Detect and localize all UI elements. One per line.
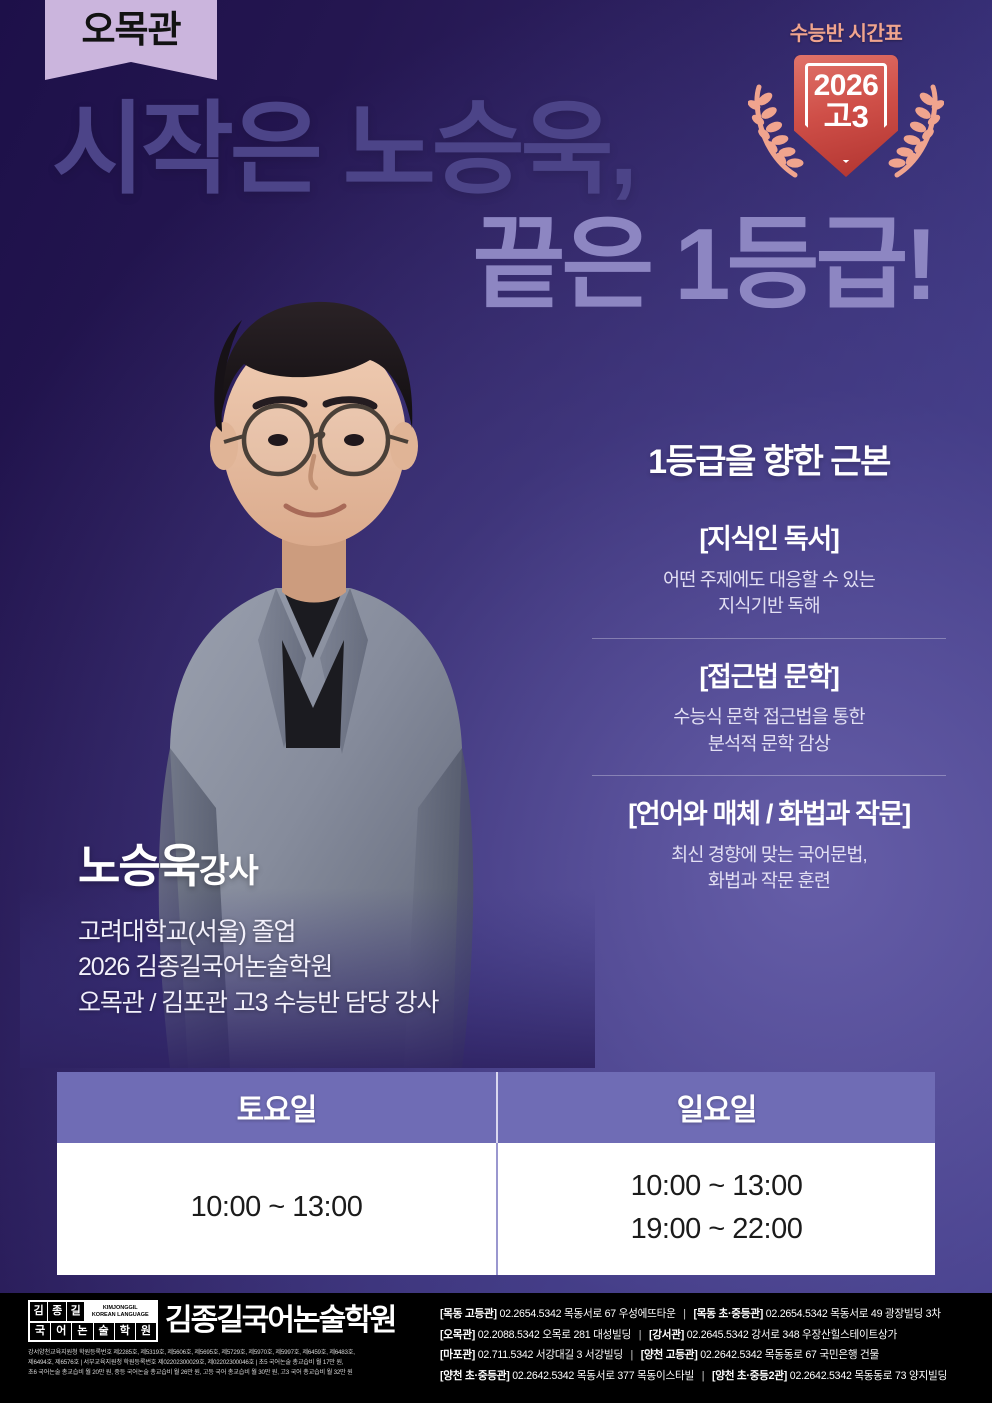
branch-name: [목동 고등관]: [440, 1308, 497, 1320]
logo-char: 학: [114, 1323, 135, 1340]
logo-char: 길: [66, 1302, 84, 1321]
schedule-header-row: 토요일 일요일: [57, 1072, 935, 1143]
branch-name: [목동 초·중등관]: [694, 1308, 764, 1320]
feature-desc-line: 분석적 문학 감상: [592, 731, 946, 757]
instructor-name: 노승욱강사: [78, 843, 438, 889]
badge-caption: 수능반 시간표: [742, 24, 950, 44]
schedule-table: 토요일 일요일 10:00 ~ 13:00 10:00 ~ 13:00 19:0…: [57, 1072, 935, 1324]
feature-title: [접근법 문학]: [592, 661, 946, 695]
branch-name: [양천 초·중등관]: [440, 1370, 510, 1382]
branch-phone: 02.2654.5342: [766, 1308, 828, 1320]
branch-name: [오목관]: [440, 1329, 475, 1341]
feature-desc-line: 화법과 작문 훈련: [592, 868, 946, 894]
feature-desc-line: 지식기반 독해: [592, 593, 946, 619]
instructor-block: 노승욱강사 고려대학교(서울) 졸업 2026 김종길국어논술학원 오목관 / …: [78, 843, 438, 1022]
feature-title: [지식인 독서]: [592, 523, 946, 557]
instructor-bio-line: 고려대학교(서울) 졸업: [78, 915, 438, 951]
legal-line: 초6 국어논술 총교습비 월 20만 원, 중등 국어논술 총교습비 월 26만…: [28, 1368, 432, 1378]
branch-separator: |: [697, 1370, 710, 1382]
logo-english-line: KIMJONGGIL: [103, 1305, 138, 1312]
logo-char: 종: [47, 1302, 65, 1321]
instructor-bio-line: 오목관 / 김포관 고3 수능반 담당 강사: [78, 986, 438, 1022]
legal-line: 제6494호, 제6576호 | 서부교육지원청 학원등록번호 제0220230…: [28, 1358, 432, 1368]
branch-line: [오목관] 02.2088.5342 오목로 281 대성빌딩 | [강서관] …: [440, 1325, 984, 1346]
branch-tag: 오목관: [45, 0, 217, 80]
branch-address: 목동서로 67 우성에뜨타운: [564, 1308, 676, 1320]
schedule-cell-saturday: 10:00 ~ 13:00: [57, 1143, 496, 1275]
logo-char: 논: [71, 1323, 92, 1340]
footer-branch-list: [목동 고등관] 02.2654.5342 목동서로 67 우성에뜨타운 | […: [432, 1300, 992, 1387]
instructor-bio-line: 2026 김종길국어논술학원: [78, 950, 438, 986]
feature-item: [언어와 매체 / 화법과 작문] 최신 경향에 맞는 국어문법, 화법과 작문…: [592, 775, 946, 912]
branch-separator: |: [626, 1349, 639, 1361]
branch-name: [강서관]: [649, 1329, 684, 1341]
branch-phone: 02.2642.5342: [790, 1370, 852, 1382]
branch-phone: 02.2645.5342: [687, 1329, 749, 1341]
logo-english: KIMJONGGIL KOREAN LANGUAGE: [84, 1302, 156, 1321]
branch-phone: 02.2654.5342: [499, 1308, 561, 1320]
branch-phone: 02.2642.5342: [700, 1349, 762, 1361]
feature-title: [언어와 매체 / 화법과 작문]: [592, 798, 946, 832]
branch-name: [양천 고등관]: [641, 1349, 698, 1361]
legal-line: 강서양천교육지원청 학원등록번호 제2285호, 제5319호, 제5606호,…: [28, 1348, 432, 1358]
branch-address: 목동동로 73 양지빌딩: [854, 1370, 947, 1382]
logo-char: 김: [30, 1302, 47, 1321]
poster-root: 오목관 수능반 시간표: [0, 0, 992, 1403]
schedule-header-saturday: 토요일: [57, 1072, 496, 1143]
branch-address: 목동서로 377 목동이스타빌: [577, 1370, 694, 1382]
logo-char: 국: [30, 1323, 50, 1340]
schedule-time: 10:00 ~ 13:00: [57, 1186, 496, 1229]
academy-logo-mark: 김 종 길 KIMJONGGIL KOREAN LANGUAGE 국 어 논 술: [28, 1300, 158, 1342]
branch-line: [마포관] 02.711.5342 서강대길 3 서강빌딩 | [양천 고등관]…: [440, 1345, 984, 1366]
branch-line: [목동 고등관] 02.2654.5342 목동서로 67 우성에뜨타운 | […: [440, 1304, 984, 1325]
branch-phone: 02.2642.5342: [512, 1370, 574, 1382]
schedule-time: 19:00 ~ 22:00: [498, 1208, 935, 1251]
branch-address: 서강대길 3 서강빌딩: [536, 1349, 623, 1361]
schedule-body-row: 10:00 ~ 13:00 10:00 ~ 13:00 19:00 ~ 22:0…: [57, 1143, 935, 1275]
footer: 김 종 길 KIMJONGGIL KOREAN LANGUAGE 국 어 논 술: [0, 1293, 992, 1403]
branch-address: 목동서로 49 광장빌딩 3차: [830, 1308, 940, 1320]
instructor-name-text: 노승욱: [78, 840, 199, 892]
logo-char: 원: [135, 1323, 156, 1340]
badge-grade: 고3: [742, 101, 950, 134]
branch-address: 오목로 281 대성빌딩: [542, 1329, 631, 1341]
instructor-name-suffix: 강사: [199, 852, 258, 889]
feature-desc-line: 수능식 문학 접근법을 통한: [592, 704, 946, 730]
branch-name: [양천 초·중등2관]: [712, 1370, 787, 1382]
branch-separator: |: [634, 1329, 647, 1341]
feature-item: [접근법 문학] 수능식 문학 접근법을 통한 분석적 문학 감상: [592, 638, 946, 775]
branch-name: [마포관]: [440, 1349, 475, 1361]
instructor-bio: 고려대학교(서울) 졸업 2026 김종길국어논술학원 오목관 / 김포관 고3…: [78, 915, 438, 1022]
feature-desc-line: 최신 경향에 맞는 국어문법,: [592, 842, 946, 868]
footer-brand-area: 김 종 길 KIMJONGGIL KOREAN LANGUAGE 국 어 논 술: [0, 1300, 432, 1378]
logo-english-line: KOREAN LANGUAGE: [92, 1312, 149, 1319]
feature-item: [지식인 독서] 어떤 주제에도 대응할 수 있는 지식기반 독해: [592, 519, 946, 637]
logo-char: 어: [50, 1323, 71, 1340]
branch-phone: 02.711.5342: [478, 1349, 533, 1361]
schedule-time: 10:00 ~ 13:00: [498, 1165, 935, 1208]
branch-tag-label: 오목관: [81, 11, 180, 48]
feature-desc-line: 어떤 주제에도 대응할 수 있는: [592, 567, 946, 593]
academy-name: 김종길국어논술학원: [165, 1306, 395, 1336]
branch-address: 목동동로 67 국민은행 건물: [765, 1349, 879, 1361]
features-title: 1등급을 향한 근본: [592, 444, 946, 481]
features-panel: 1등급을 향한 근본 [지식인 독서] 어떤 주제에도 대응할 수 있는 지식기…: [592, 444, 946, 912]
schedule-header-sunday: 일요일: [496, 1072, 935, 1143]
schedule-cell-sunday: 10:00 ~ 13:00 19:00 ~ 22:00: [496, 1143, 935, 1275]
legal-text: 강서양천교육지원청 학원등록번호 제2285호, 제5319호, 제5606호,…: [28, 1348, 432, 1378]
schedule-badge: 수능반 시간표: [742, 24, 950, 186]
badge-year: 2026: [742, 71, 950, 101]
branch-phone: 02.2088.5342: [478, 1329, 540, 1341]
branch-line: [양천 초·중등관] 02.2642.5342 목동서로 377 목동이스타빌 …: [440, 1366, 984, 1387]
branch-address: 강서로 348 우장산힐스테이트상가: [751, 1329, 897, 1341]
branch-separator: |: [678, 1308, 691, 1320]
brand-row: 김 종 길 KIMJONGGIL KOREAN LANGUAGE 국 어 논 술: [28, 1300, 432, 1342]
logo-char: 술: [93, 1323, 114, 1340]
